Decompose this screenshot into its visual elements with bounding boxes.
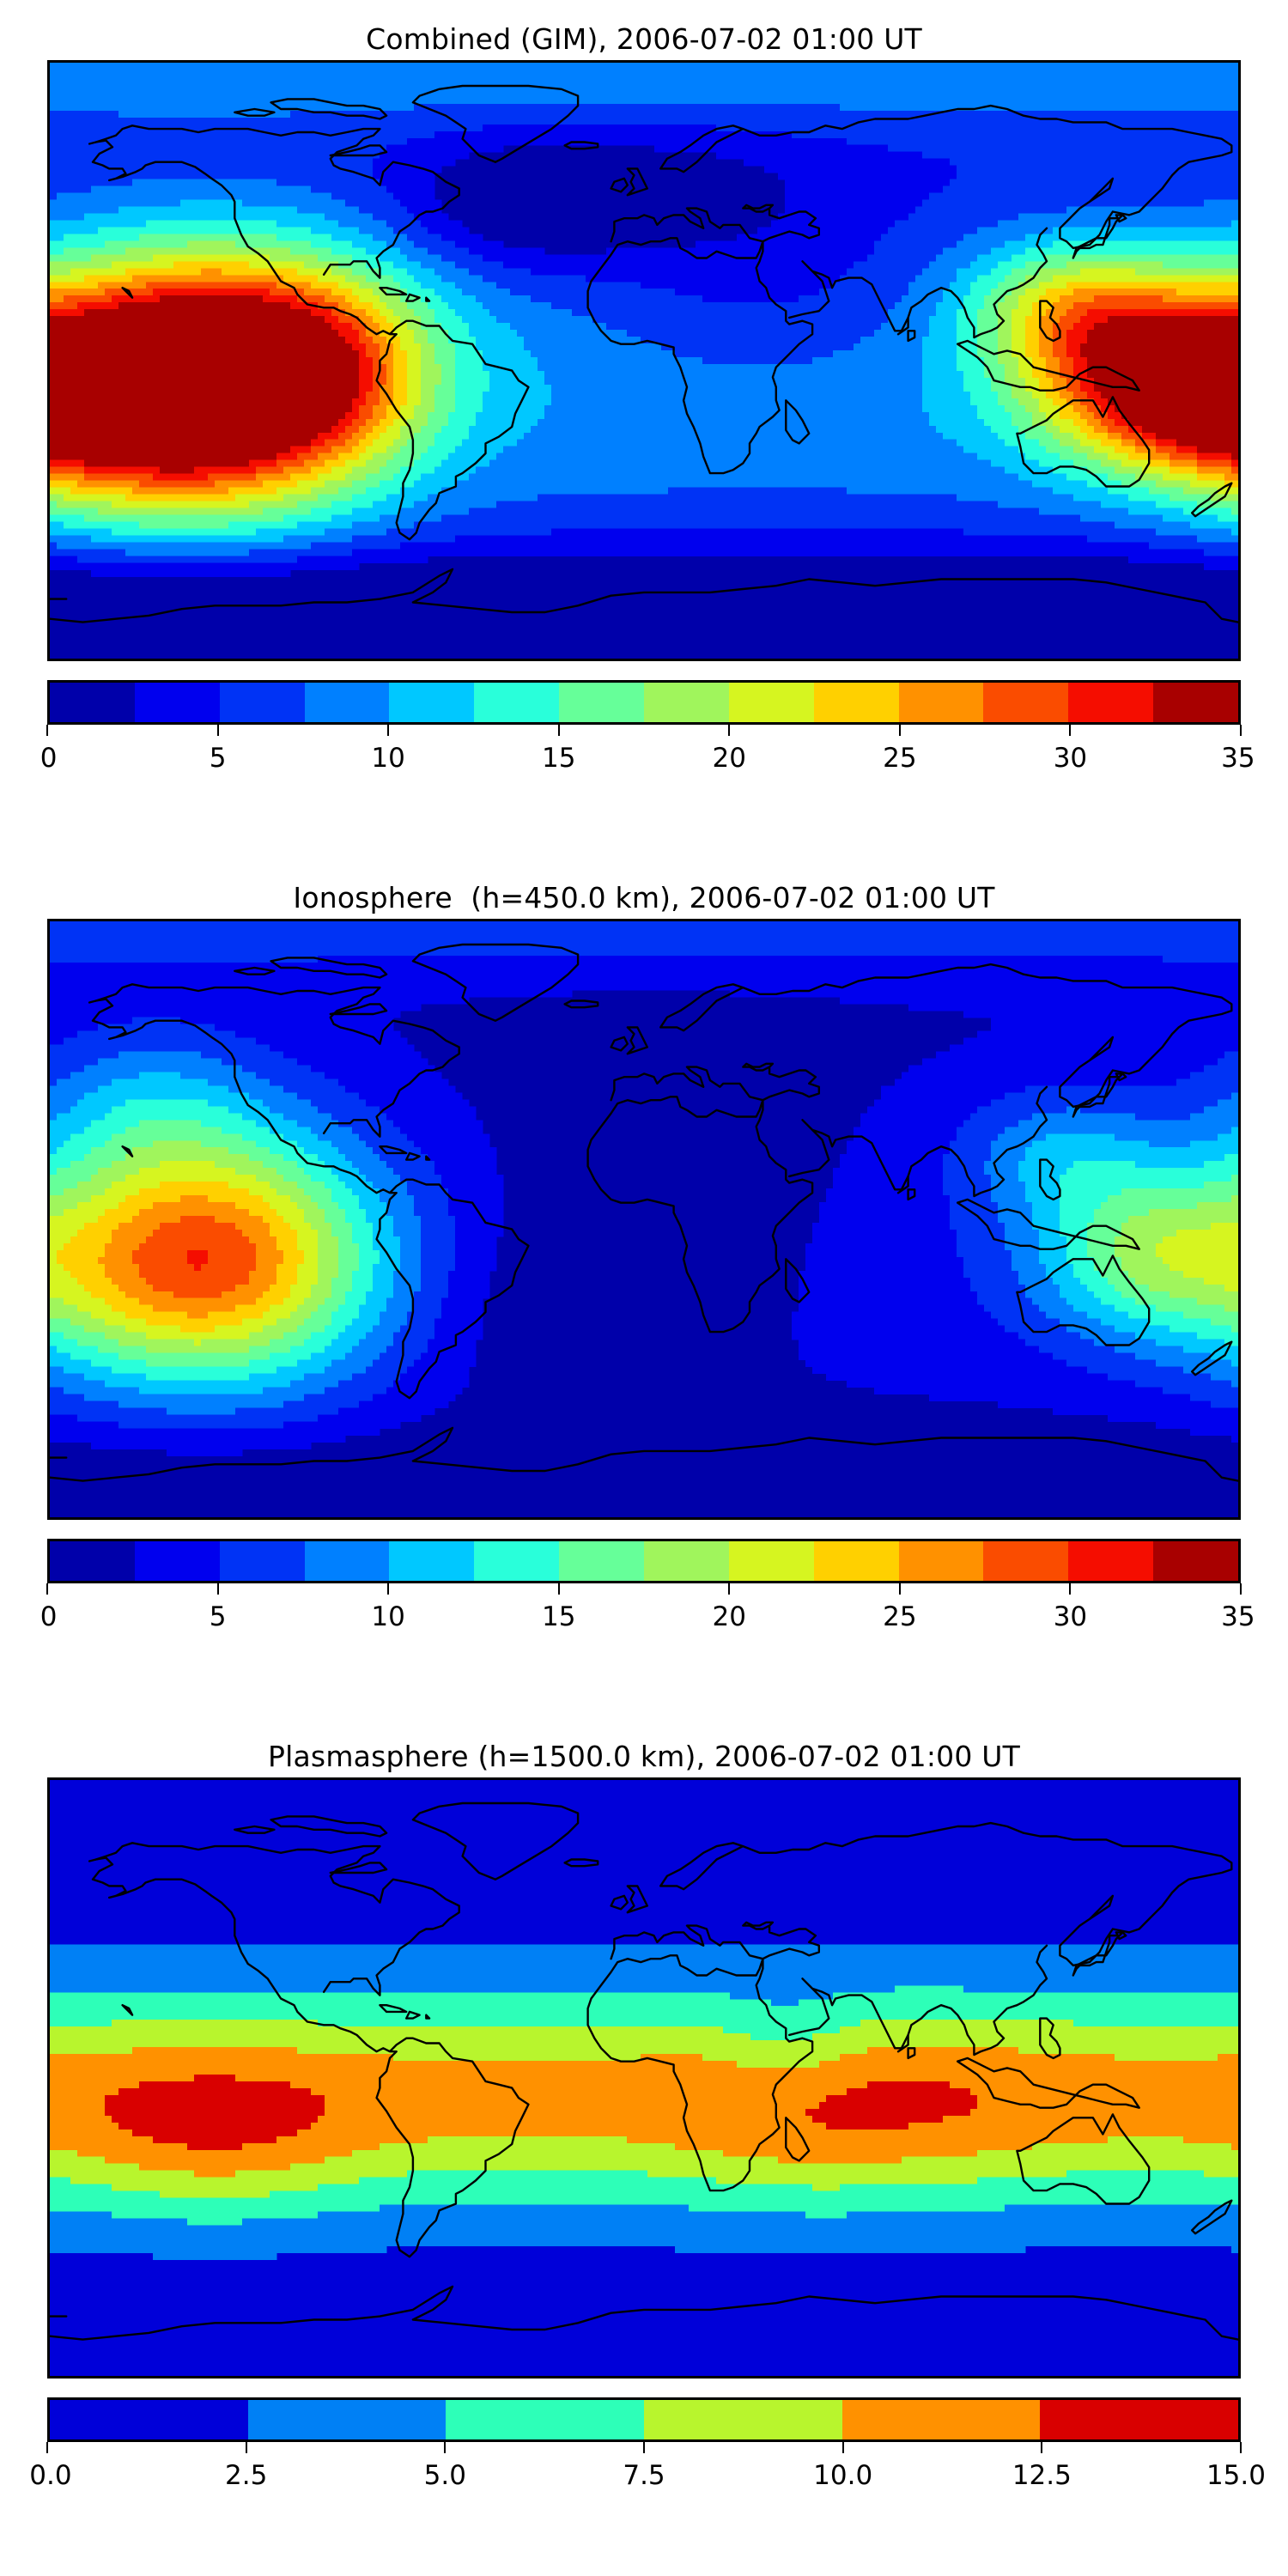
colorbar-segment [220, 683, 305, 722]
map-ionosphere-450-canvas [50, 921, 1238, 1517]
colorbar-segment [474, 1541, 559, 1581]
colorbar-segment [446, 2400, 644, 2439]
colorbar-tick-label: 30 [1054, 1601, 1087, 1633]
colorbar-tick-label: 0.0 [29, 2459, 71, 2492]
colorbar-tick-label: 10 [371, 742, 404, 775]
colorbar-segment [983, 1541, 1068, 1581]
colorbar-tick-label: 25 [883, 1601, 916, 1633]
panel-ionosphere-450: Ionosphere (h=450.0 km), 2006-07-02 01:0… [0, 881, 1288, 1638]
colorbar-tick-label: 20 [713, 742, 746, 775]
colorbar-tick-mark [842, 2442, 844, 2453]
colorbar-1-labels: 05101520253035 [47, 742, 1241, 780]
colorbar-segment [559, 683, 644, 722]
colorbar-tick-label: 15 [542, 742, 575, 775]
colorbar-tick-mark [46, 2442, 48, 2453]
map-plasmasphere-1500-canvas [50, 1780, 1238, 2376]
colorbar-segment [1153, 1541, 1238, 1581]
colorbar-segment [559, 1541, 644, 1581]
contour-fill-group [50, 63, 1238, 577]
colorbar-segment [1068, 1541, 1153, 1581]
colorbar-3-ticks [47, 2442, 1241, 2459]
colorbar-segment [389, 1541, 474, 1581]
colorbar-tick-label: 0 [40, 1601, 58, 1633]
colorbar-tick-mark [217, 725, 219, 736]
colorbar-segment [135, 683, 220, 722]
colorbar-segment [814, 1541, 899, 1581]
colorbar-segment [899, 1541, 984, 1581]
colorbar-segment [50, 683, 135, 722]
colorbar-tick-label: 15.0 [1206, 2459, 1266, 2492]
panel-plasmasphere-1500: Plasmasphere (h=1500.0 km), 2006-07-02 0… [0, 1740, 1288, 2497]
colorbar-tick-label: 10 [371, 1601, 404, 1633]
colorbar-segment [983, 683, 1068, 722]
colorbar-segment [220, 1541, 305, 1581]
colorbar-tick-label: 35 [1221, 742, 1255, 775]
map-combined-gim-canvas [50, 63, 1238, 659]
panel-1-title: Combined (GIM), 2006-07-02 01:00 UT [0, 22, 1288, 57]
colorbar-segment [644, 1541, 729, 1581]
map-plasmasphere-1500 [47, 1777, 1241, 2379]
colorbar-tick-label: 35 [1221, 1601, 1255, 1633]
colorbar-tick-label: 7.5 [623, 2459, 665, 2492]
colorbar-segment [899, 683, 984, 722]
colorbar-tick-label: 5 [210, 1601, 227, 1633]
colorbar-tick-mark [558, 1583, 560, 1595]
colorbar-1-gradient [47, 680, 1241, 725]
colorbar-tick-mark [728, 1583, 730, 1595]
colorbar-segment [1068, 683, 1153, 722]
colorbar-3-gradient [47, 2397, 1241, 2442]
colorbar-tick-mark [1069, 725, 1071, 736]
colorbar-segment [135, 1541, 220, 1581]
colorbar-ionosphere-450: 05101520253035 [47, 1539, 1241, 1638]
colorbar-tick-mark [899, 1583, 901, 1595]
colorbar-segment [729, 683, 814, 722]
colorbar-segment [1153, 683, 1238, 722]
colorbar-tick-mark [558, 725, 560, 736]
colorbar-segment [644, 2400, 842, 2439]
colorbar-2-labels: 05101520253035 [47, 1601, 1241, 1638]
colorbar-tick-mark [1240, 725, 1242, 736]
panel-combined-gim: Combined (GIM), 2006-07-02 01:00 UT 0510… [0, 22, 1288, 780]
colorbar-tick-mark [46, 1583, 48, 1595]
colorbar-2-ticks [47, 1583, 1241, 1601]
colorbar-tick-mark [728, 725, 730, 736]
colorbar-3-labels: 0.02.55.07.510.012.515.0 [47, 2459, 1241, 2497]
colorbar-tick-mark [1240, 1583, 1242, 1595]
colorbar-tick-label: 15 [542, 1601, 575, 1633]
colorbar-segment [474, 683, 559, 722]
colorbar-segment [305, 1541, 390, 1581]
colorbar-segment [644, 683, 729, 722]
colorbar-segment [729, 1541, 814, 1581]
colorbar-segment [842, 2400, 1041, 2439]
colorbar-tick-label: 10.0 [813, 2459, 872, 2492]
colorbar-tick-mark [643, 2442, 645, 2453]
colorbar-segment [50, 2400, 248, 2439]
colorbar-tick-label: 30 [1054, 742, 1087, 775]
colorbar-tick-label: 20 [713, 1601, 746, 1633]
colorbar-segment [50, 1541, 135, 1581]
colorbar-tick-label: 5 [210, 742, 227, 775]
colorbar-segment [814, 683, 899, 722]
colorbar-segment [248, 2400, 447, 2439]
colorbar-tick-label: 2.5 [225, 2459, 267, 2492]
colorbar-tick-label: 12.5 [1012, 2459, 1072, 2492]
map-ionosphere-450 [47, 919, 1241, 1520]
colorbar-tick-mark [1240, 2442, 1242, 2453]
colorbar-1-ticks [47, 725, 1241, 742]
colorbar-tick-mark [46, 725, 48, 736]
figure-canvas: Combined (GIM), 2006-07-02 01:00 UT 0510… [0, 0, 1288, 2576]
colorbar-segment [1040, 2400, 1238, 2439]
colorbar-tick-mark [387, 725, 389, 736]
colorbar-plasmasphere-1500: 0.02.55.07.510.012.515.0 [47, 2397, 1241, 2497]
colorbar-tick-mark [217, 1583, 219, 1595]
colorbar-tick-mark [246, 2442, 247, 2453]
colorbar-segment [305, 683, 390, 722]
colorbar-tick-mark [1041, 2442, 1042, 2453]
contour-fill-group [50, 1944, 1238, 2260]
colorbar-tick-mark [899, 725, 901, 736]
colorbar-2-gradient [47, 1539, 1241, 1583]
panel-2-title: Ionosphere (h=450.0 km), 2006-07-02 01:0… [0, 881, 1288, 915]
colorbar-tick-label: 25 [883, 742, 916, 775]
colorbar-tick-mark [1069, 1583, 1071, 1595]
panel-3-title: Plasmasphere (h=1500.0 km), 2006-07-02 0… [0, 1740, 1288, 1774]
colorbar-segment [389, 683, 474, 722]
colorbar-tick-label: 0 [40, 742, 58, 775]
colorbar-tick-label: 5.0 [424, 2459, 466, 2492]
colorbar-tick-mark [387, 1583, 389, 1595]
colorbar-combined-gim: 05101520253035 [47, 680, 1241, 780]
colorbar-tick-mark [444, 2442, 446, 2453]
map-combined-gim [47, 60, 1241, 661]
